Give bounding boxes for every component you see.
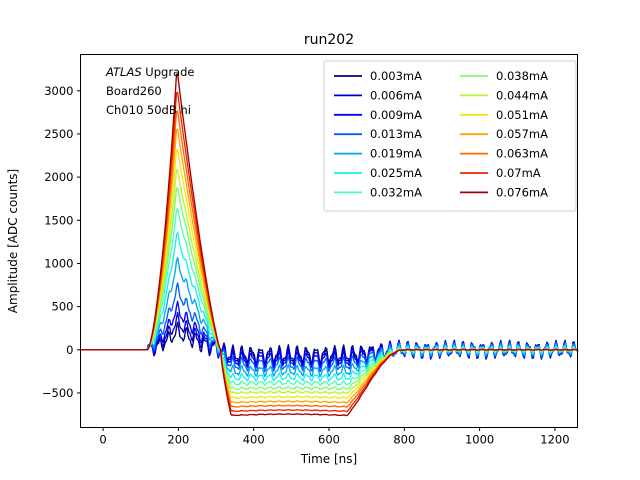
legend-label[interactable]: 0.038mA <box>496 69 548 83</box>
legend-label[interactable]: 0.019mA <box>370 147 422 161</box>
y-axis-ticks: −500050010001500200025003000 <box>42 84 81 400</box>
y-tick-label: −500 <box>42 386 74 400</box>
annotation-line-1: ATLAS Upgrade <box>105 65 194 79</box>
y-tick-label: 2500 <box>44 127 73 141</box>
annotation-line-2: Board260 <box>106 84 162 98</box>
x-tick-label: 1000 <box>465 433 494 447</box>
legend-label[interactable]: 0.076mA <box>496 185 548 199</box>
y-tick-label: 500 <box>52 300 74 314</box>
data-trace <box>81 233 578 381</box>
y-tick-label: 0 <box>66 343 73 357</box>
annotation-atlas-word: ATLAS <box>105 65 142 79</box>
figure-canvas: run202 020040060080010001200 −5000500100… <box>0 0 640 480</box>
x-tick-label: 800 <box>393 433 415 447</box>
x-tick-label: 600 <box>318 433 340 447</box>
y-tick-label: 1500 <box>44 213 73 227</box>
y-tick-label: 2000 <box>44 170 73 184</box>
y-axis-label: Amplitude [ADC counts] <box>6 169 20 313</box>
x-tick-label: 0 <box>99 433 106 447</box>
legend-label[interactable]: 0.063mA <box>496 147 548 161</box>
annotation-upgrade-word: Upgrade <box>142 65 195 79</box>
x-axis-label: Time [ns] <box>300 452 357 466</box>
legend-label[interactable]: 0.07mA <box>496 166 541 180</box>
x-tick-label: 1200 <box>540 433 569 447</box>
page-title: run202 <box>304 32 354 48</box>
legend-label[interactable]: 0.057mA <box>496 127 548 141</box>
data-trace <box>81 209 578 386</box>
legend-label[interactable]: 0.013mA <box>370 127 422 141</box>
x-axis-ticks: 020040060080010001200 <box>99 428 569 447</box>
legend-label[interactable]: 0.025mA <box>370 166 422 180</box>
legend-label[interactable]: 0.032mA <box>370 185 422 199</box>
data-trace <box>81 188 578 390</box>
x-tick-label: 400 <box>243 433 265 447</box>
chart-svg: run202 020040060080010001200 −5000500100… <box>0 0 640 480</box>
legend-label[interactable]: 0.009mA <box>370 108 422 122</box>
chart-title-group: run202 <box>304 32 354 48</box>
legend-label[interactable]: 0.003mA <box>370 69 422 83</box>
legend-label[interactable]: 0.051mA <box>496 108 548 122</box>
annotation-line-3: Ch010 50dB hi <box>106 103 191 117</box>
y-tick-label: 1000 <box>44 256 73 270</box>
atlas-annotation: ATLAS Upgrade Board260 Ch010 50dB hi <box>105 65 194 117</box>
legend-label[interactable]: 0.044mA <box>496 88 548 102</box>
chart-legend[interactable]: 0.003mA0.006mA0.009mA0.013mA0.019mA0.025… <box>324 61 576 211</box>
x-tick-label: 200 <box>167 433 189 447</box>
legend-label[interactable]: 0.006mA <box>370 88 422 102</box>
y-tick-label: 3000 <box>44 84 73 98</box>
